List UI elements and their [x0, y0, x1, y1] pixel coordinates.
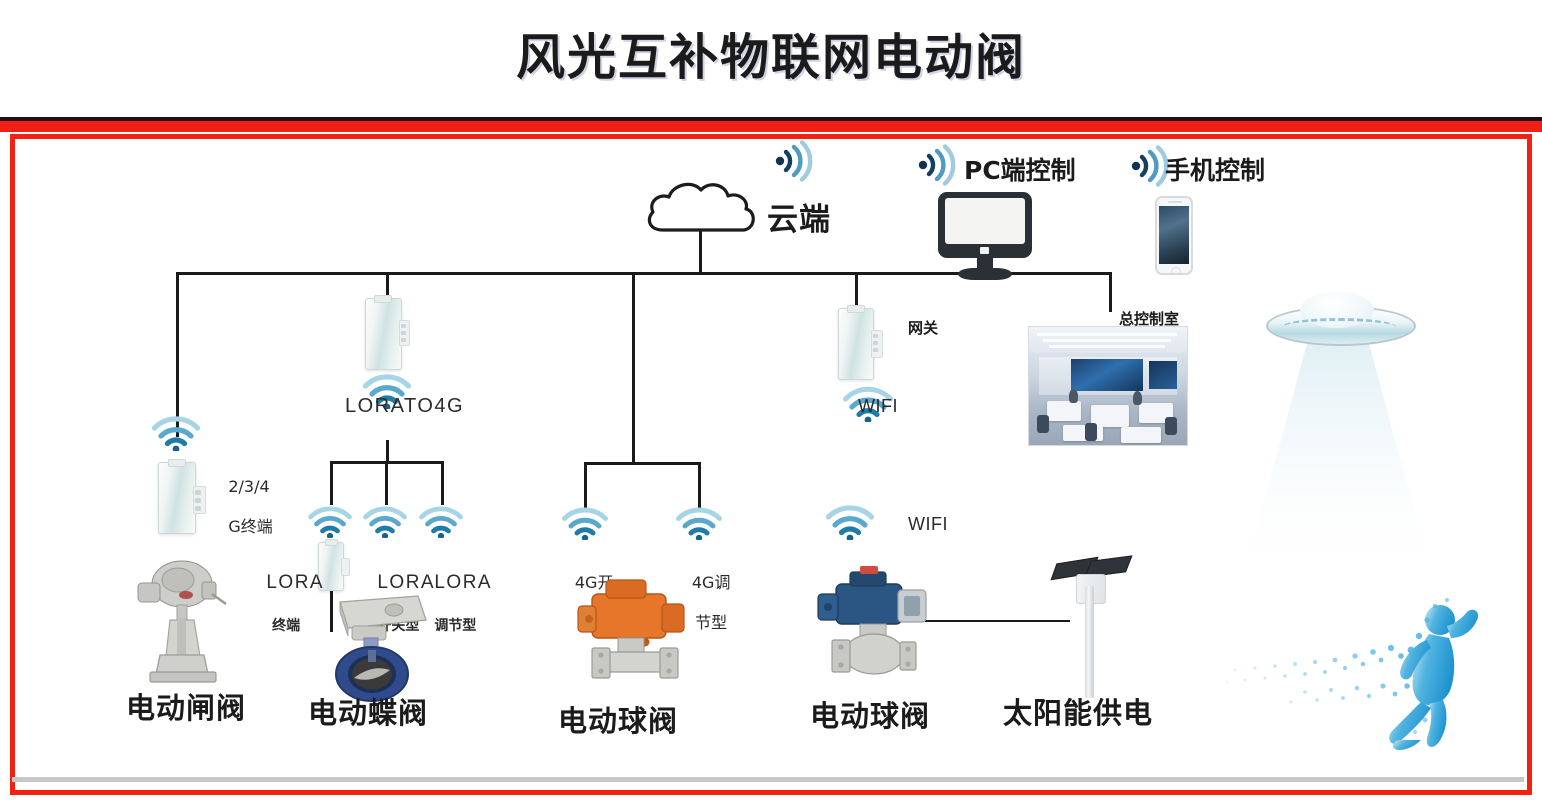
lora-terminal-wifi-icon	[308, 505, 352, 538]
ufo-beam-icon	[1248, 270, 1428, 570]
lora-branch-regulate	[441, 461, 444, 505]
valve-label-ball-orange: 电动球阀	[558, 705, 678, 738]
solar-label: 太阳能供电	[1003, 697, 1153, 730]
lora-gateway-device-icon	[365, 298, 411, 370]
electric-ball-valve-orange-icon	[572, 576, 702, 688]
cellular-terminal-device-icon	[158, 462, 206, 534]
smartphone-icon	[1155, 196, 1193, 275]
lora-regulate-label-line1: LORA	[434, 572, 492, 593]
cloud-icon	[643, 178, 768, 233]
lora-terminal-label-line1: LORA	[266, 572, 324, 593]
cloud-label: 云端	[767, 203, 831, 239]
drop-line-4g-branch	[632, 272, 635, 462]
top-red-rule	[0, 121, 1542, 132]
fourg-switch-wifi-icon	[562, 506, 608, 540]
cloud-signal-icon	[770, 140, 814, 182]
gateway-device-icon	[838, 308, 884, 380]
valve-label-butterfly: 电动蝶阀	[308, 697, 428, 730]
lora-regulate-wifi-icon	[419, 505, 463, 538]
terminal-234g-label-line1: 2/3/4	[228, 477, 269, 496]
bottom-gray-rule	[12, 777, 1524, 782]
drop-line-gateway	[855, 272, 858, 308]
diagram-canvas: 风光互补物联网电动阀	[0, 0, 1542, 809]
valve-label-gate: 电动闸阀	[126, 692, 246, 725]
control-room-photo	[1028, 326, 1188, 446]
drop-line-2g3g4g	[176, 272, 179, 437]
mobile-signal-icon	[1126, 145, 1170, 187]
cloud-trunk-line	[699, 228, 702, 274]
fourg-branch-switch	[584, 462, 587, 508]
pc-control-label: PC端控制	[964, 157, 1076, 186]
lora-to-4g-label: LORATO4G	[345, 395, 464, 418]
solar-feed-line	[925, 620, 1070, 622]
lora-terminal-label-line2: 终端	[272, 618, 300, 634]
running-man-particles-icon	[1215, 590, 1515, 760]
electric-ball-valve-blue-icon	[812, 560, 942, 686]
lora-terminal-label: LORA 终端	[246, 551, 306, 655]
fourg-regulate-wifi-icon	[676, 506, 722, 540]
drop-line-control-room	[1109, 272, 1112, 312]
fourg-subbus-line	[584, 462, 701, 465]
lora-subbus-feed	[386, 440, 389, 462]
monitor-icon	[938, 192, 1032, 280]
lora-branch-switch	[385, 461, 388, 505]
lora-branch-terminal	[330, 461, 333, 505]
terminal-234g-wifi-icon	[152, 415, 200, 451]
solar-pole-icon	[1063, 552, 1135, 702]
electric-butterfly-valve-icon	[322, 586, 442, 702]
mobile-control-label: 手机控制	[1165, 157, 1265, 186]
ball-valve-wifi-icon	[826, 504, 874, 540]
page-title: 风光互补物联网电动阀	[0, 30, 1542, 86]
gateway-wifi-label: WIFI	[858, 396, 898, 417]
terminal-234g-label-line2: G终端	[228, 517, 272, 536]
gateway-label: 网关	[908, 320, 938, 337]
valve-label-ball-blue: 电动球阀	[810, 700, 930, 733]
pc-signal-icon	[913, 144, 957, 186]
terminal-234g-label: 2/3/4 G终端	[208, 457, 270, 557]
ball-valve-wifi-label: WIFI	[908, 514, 948, 535]
fourg-branch-regulate	[698, 462, 701, 508]
electric-gate-valve-icon	[130, 556, 246, 684]
lora-switch-wifi-icon	[363, 505, 407, 538]
